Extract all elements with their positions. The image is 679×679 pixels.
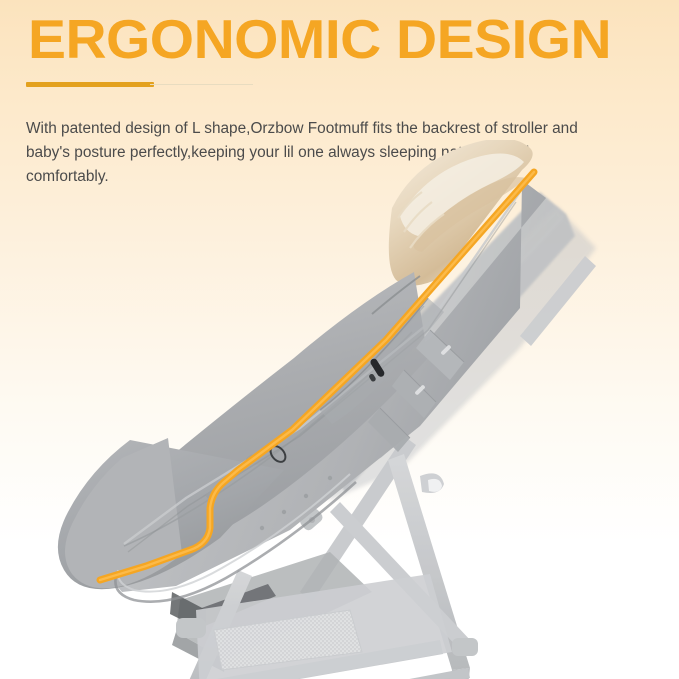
- title-divider-bar: [26, 82, 154, 87]
- page-title: ERGONOMIC DESIGN: [28, 9, 611, 69]
- title-divider-tail: [150, 84, 253, 85]
- product-infographic-page: ERGONOMIC DESIGN With patented design of…: [0, 0, 679, 679]
- product-photo: [0, 140, 679, 679]
